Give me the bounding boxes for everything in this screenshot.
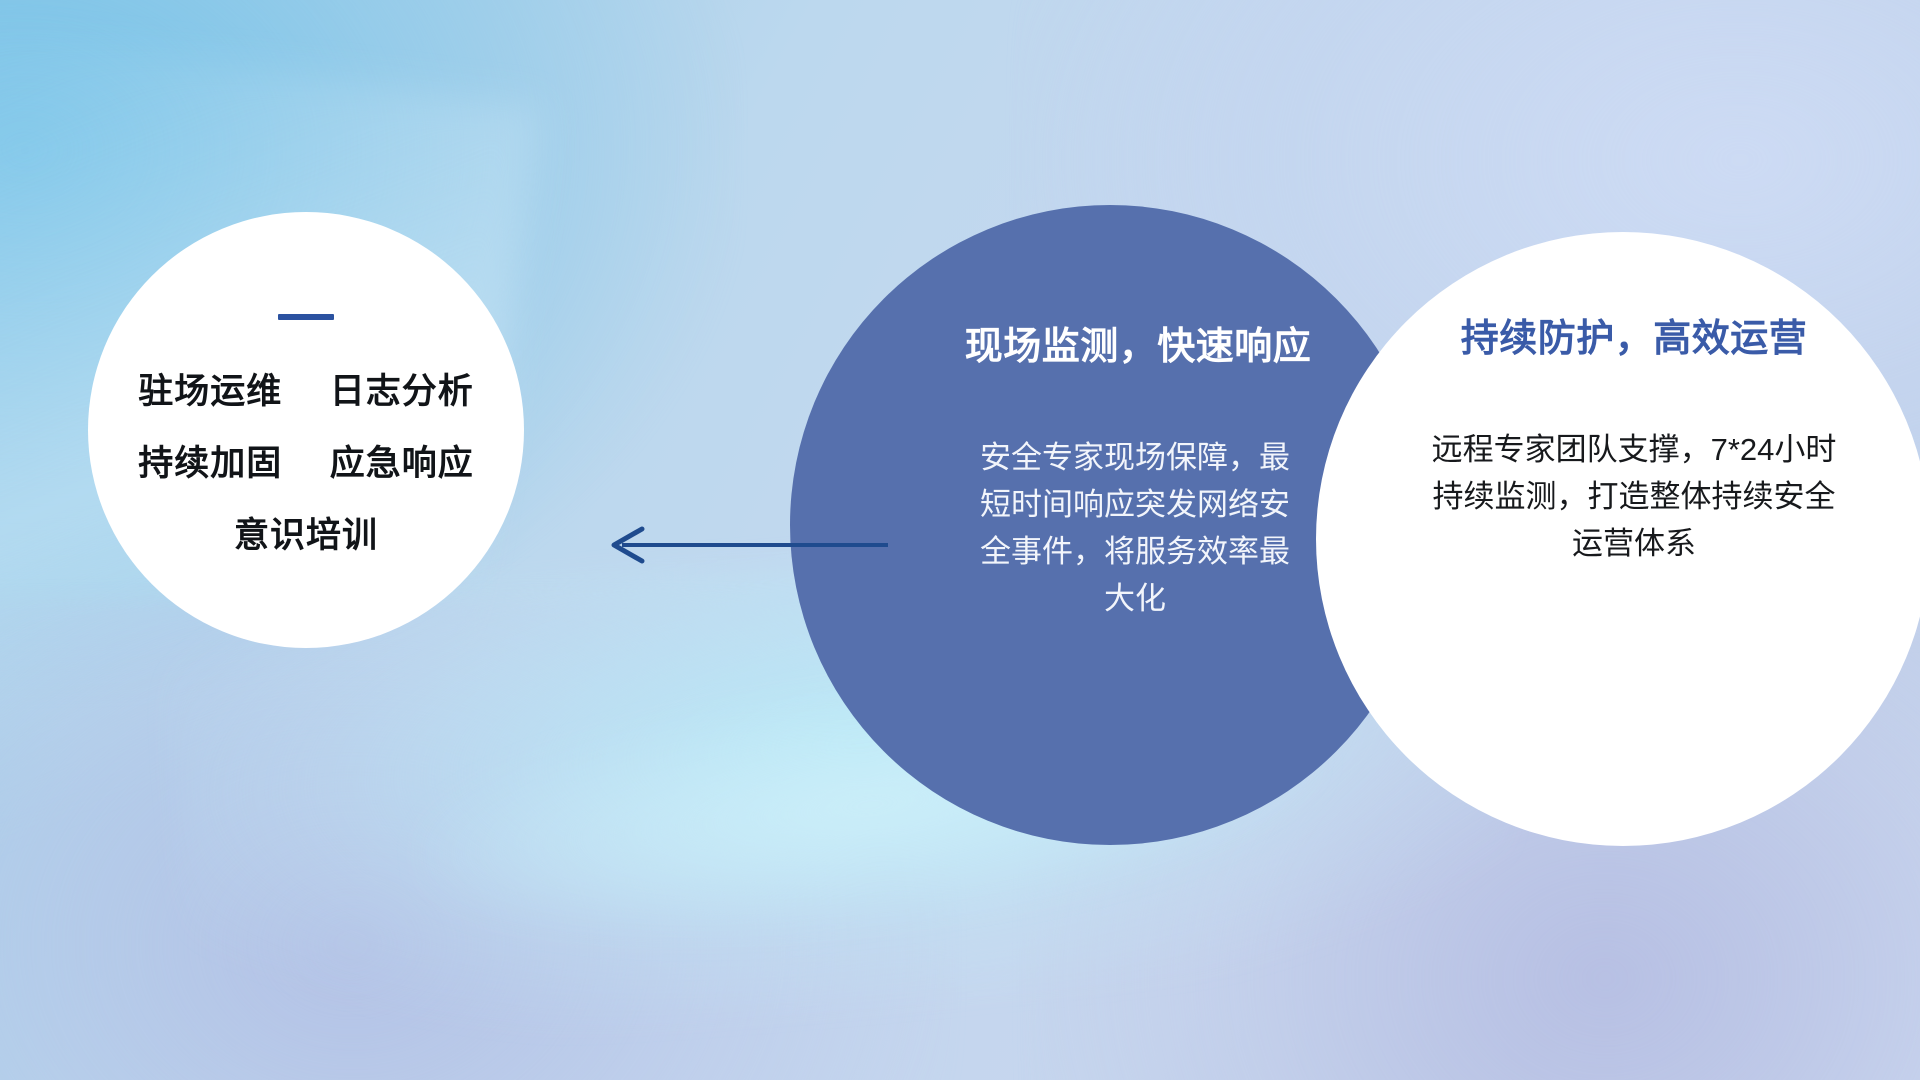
- capability-row: 驻场运维 日志分析: [138, 374, 474, 409]
- capability-tag: 意识培训: [234, 516, 378, 555]
- left-circle-content: 驻场运维 日志分析 持续加固 应急响应 意识培训: [88, 212, 524, 648]
- right-circle-body: 远程专家团队支撑，7*24小时持续监测，打造整体持续安全运营体系: [1419, 426, 1849, 567]
- right-circle-content: 持续防护，高效运营 远程专家团队支撑，7*24小时持续监测，打造整体持续安全运营…: [1316, 232, 1920, 846]
- middle-circle-body: 安全专家现场保障，最短时间响应突发网络安全事件，将服务效率最大化: [970, 434, 1300, 622]
- capability-tag: 日志分析: [330, 372, 474, 411]
- capability-tag: 持续加固: [138, 444, 282, 483]
- capability-tag: 应急响应: [330, 444, 474, 483]
- left-circle-divider: [278, 314, 334, 320]
- middle-circle-title: 现场监测，快速响应: [965, 315, 1312, 370]
- capability-row: 持续加固 应急响应: [138, 446, 474, 481]
- right-circle-title: 持续防护，高效运营: [1461, 307, 1808, 362]
- capability-tag: 驻场运维: [138, 372, 282, 411]
- capability-row: 意识培训: [234, 518, 378, 553]
